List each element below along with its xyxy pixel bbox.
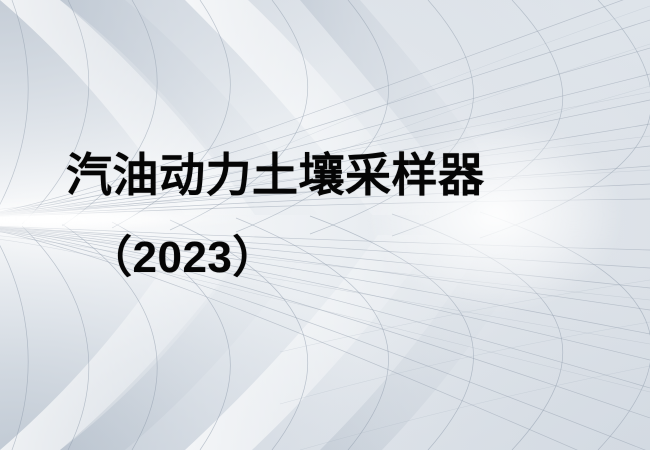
slide-title-year: （2023）: [88, 232, 277, 284]
slide-title-primary: 汽油动力土壤采样器: [66, 148, 485, 202]
title-slide: 汽油动力土壤采样器 （2023）: [0, 0, 650, 450]
title-block: 汽油动力土壤采样器 （2023）: [0, 0, 650, 450]
